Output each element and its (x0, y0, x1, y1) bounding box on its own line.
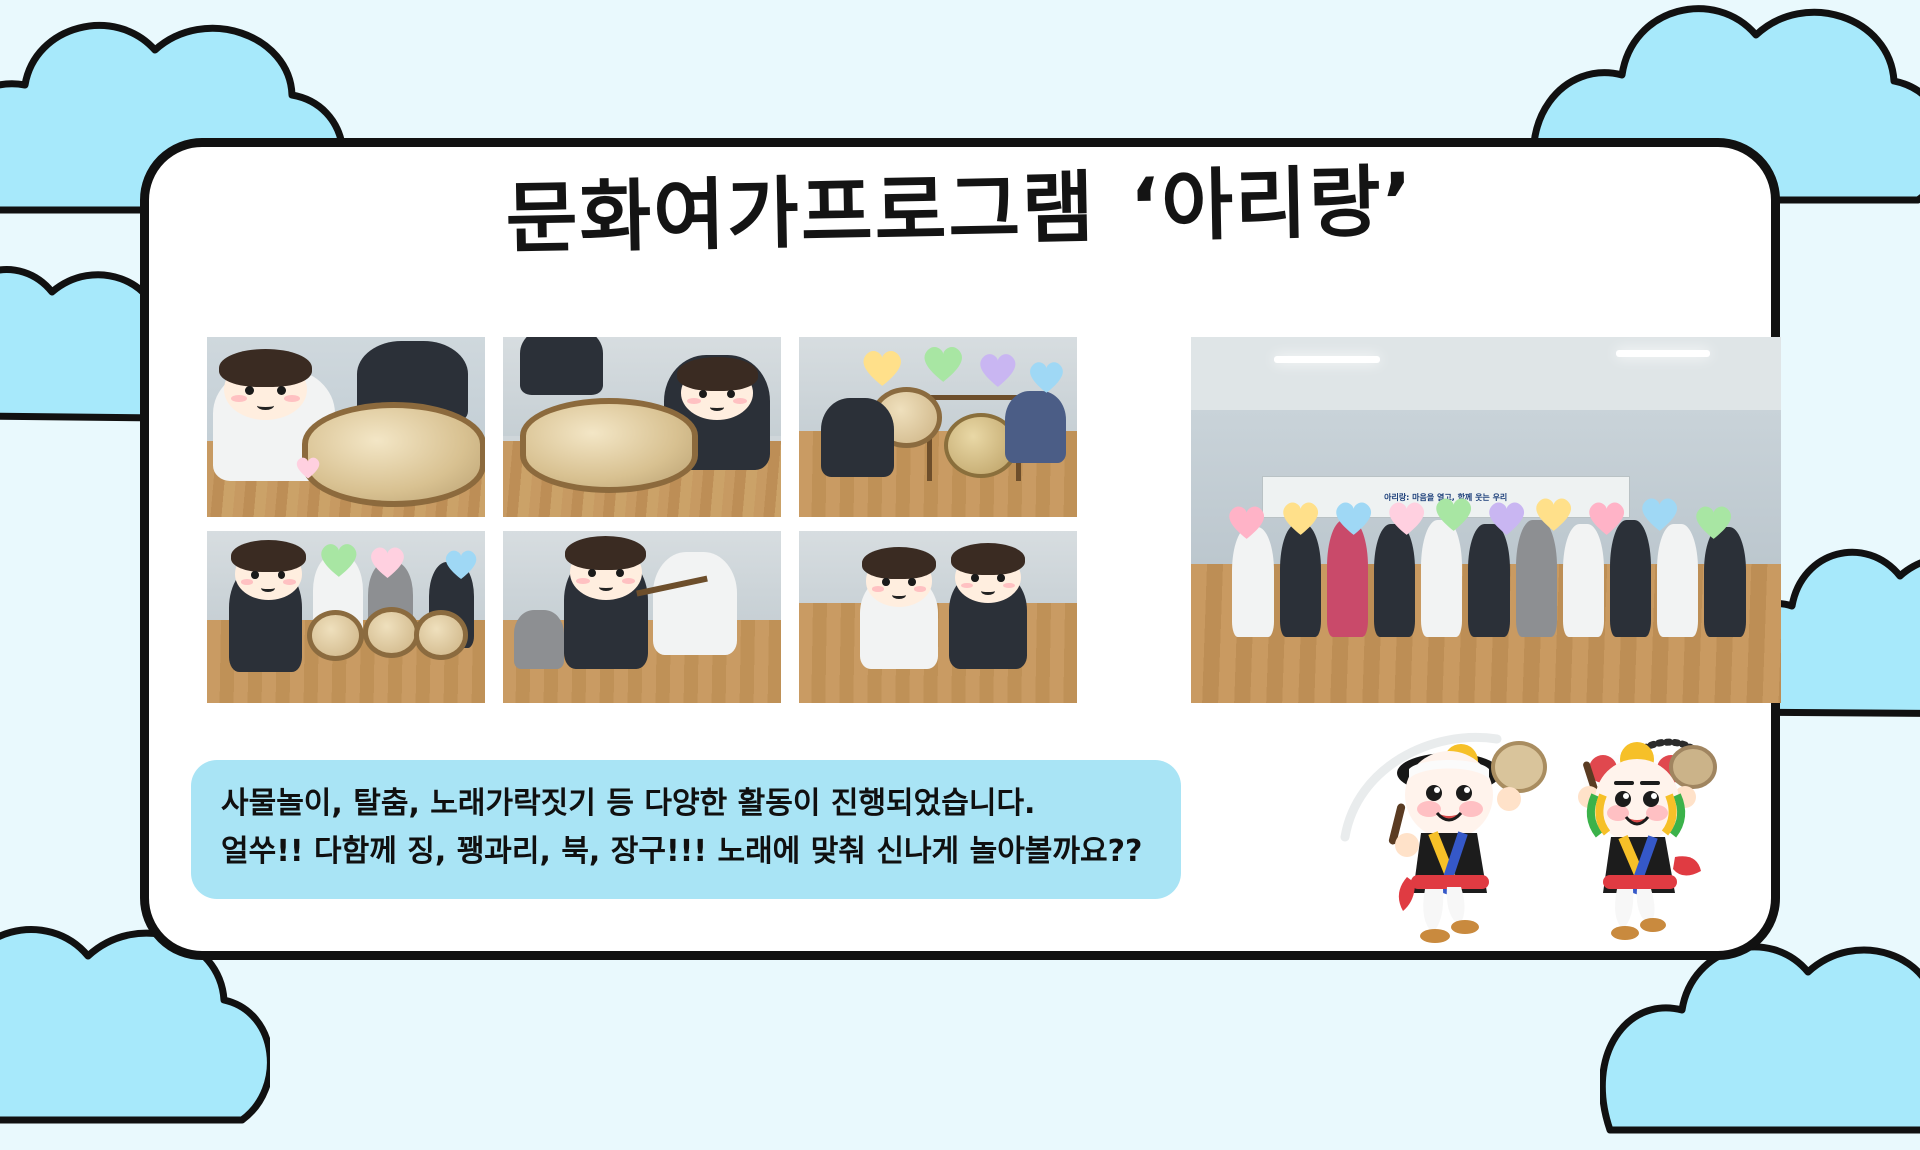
mascot-right (1578, 742, 1715, 940)
face-sticker (866, 555, 933, 607)
description-line-2: 얼쑤!! 다함께 징, 꽹과리, 북, 장구!!! 노래에 맞춰 신나게 놀아볼… (221, 828, 1153, 877)
page-title: 문화여가프로그램‘아리랑’ (148, 153, 1771, 270)
gallery-photo-1[interactable] (207, 337, 485, 517)
title-quoted-text: ‘아리랑’ (1129, 157, 1415, 252)
mascot-left (1388, 743, 1545, 943)
gallery-photo-4[interactable] (207, 531, 485, 703)
main-card: 문화여가프로그램‘아리랑’ (140, 138, 1780, 960)
gallery-photo-2[interactable] (503, 337, 781, 517)
face-sticker (570, 545, 642, 600)
gallery-photo-6[interactable] (799, 531, 1077, 703)
gallery-photo-5[interactable] (503, 531, 781, 703)
face-sticker (224, 359, 307, 420)
photo-grid (207, 337, 1157, 703)
face-sticker (235, 548, 302, 600)
gallery-feature-photo[interactable]: 아리랑: 마음을 열고, 함께 웃는 우리 (1191, 337, 1781, 703)
gallery-photo-3[interactable] (799, 337, 1077, 517)
face-sticker (681, 366, 753, 420)
title-main-text: 문화여가프로그램 (505, 163, 1097, 264)
description-line-1: 사물놀이, 탈춤, 노래가락짓기 등 다양한 활동이 진행되었습니다. (221, 780, 1153, 829)
korean-folk-mascots (1337, 717, 1737, 947)
description-bubble: 사물놀이, 탈춤, 노래가락짓기 등 다양한 활동이 진행되었습니다. 얼쑤!!… (191, 760, 1181, 899)
face-sticker (955, 552, 1022, 604)
